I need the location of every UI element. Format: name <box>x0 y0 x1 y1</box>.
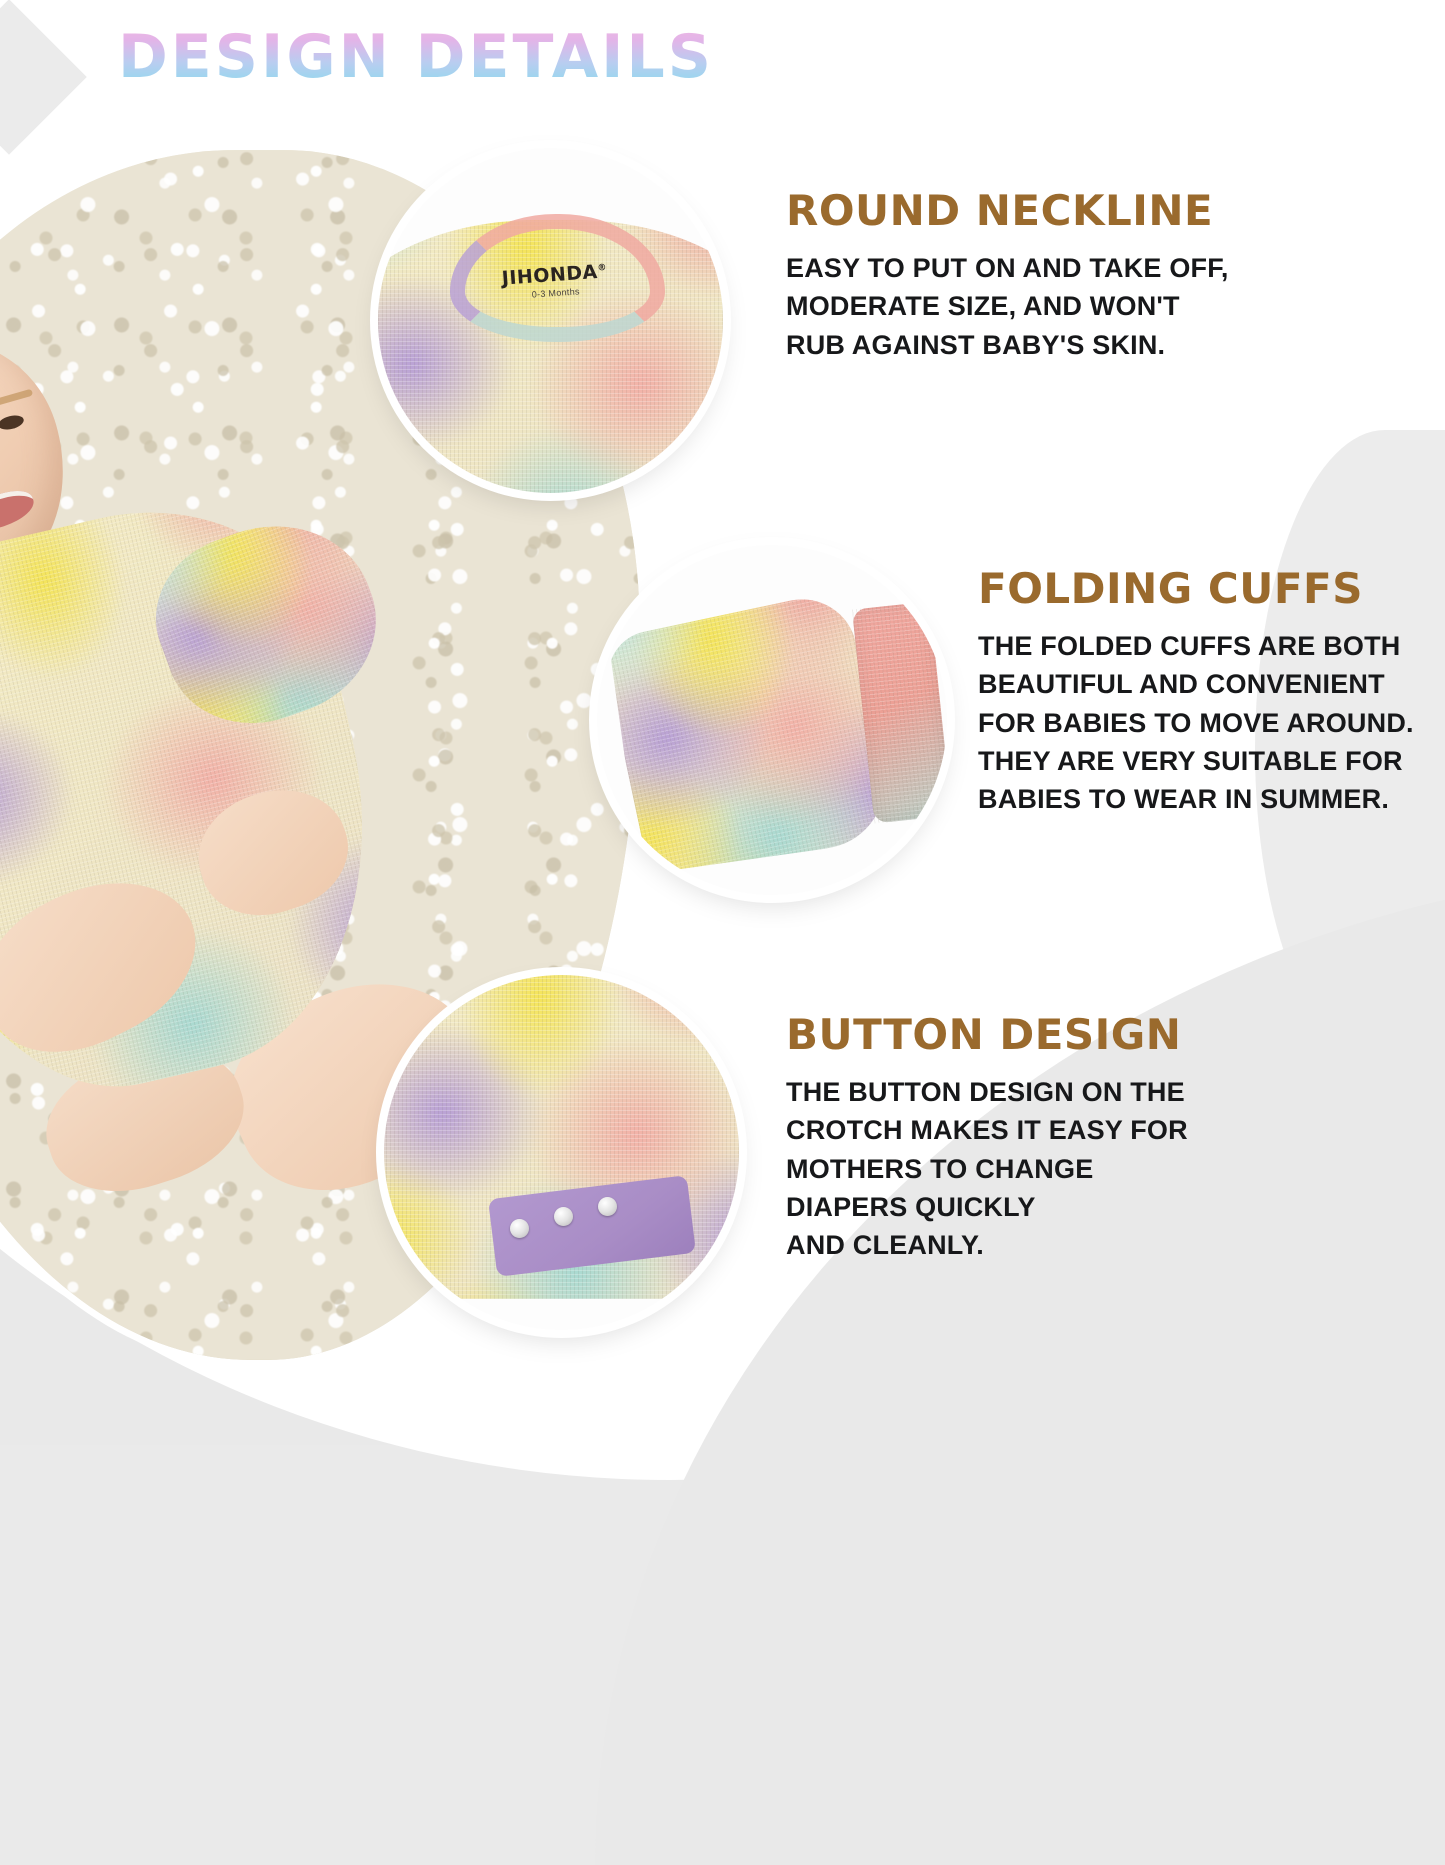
snap-button-circle-icon <box>384 975 739 1330</box>
neckline-circle-icon: JIHONDA® 0-3 Months <box>378 148 723 493</box>
body-line: FOR BABIES TO MOVE AROUND. <box>978 704 1414 742</box>
body-line: THE FOLDED CUFFS ARE BOTH <box>978 627 1414 665</box>
snap-button-2 <box>554 1207 573 1226</box>
brand-tag-size: 0-3 Months <box>531 286 580 299</box>
body-line: MOTHERS TO CHANGE <box>786 1150 1188 1188</box>
body-line: BEAUTIFUL AND CONVENIENT <box>978 665 1414 703</box>
body-button: THE BUTTON DESIGN ON THE CROTCH MAKES IT… <box>786 1073 1188 1265</box>
heading-cuffs: FOLDING CUFFS <box>978 568 1414 610</box>
waffle-knit-texture-cuff <box>604 589 897 874</box>
body-line: CROTCH MAKES IT EASY FOR <box>786 1111 1188 1149</box>
snap-button-3 <box>598 1197 617 1216</box>
neckline-detail-photo: JIHONDA® 0-3 Months <box>378 148 723 493</box>
brand-tag: JIHONDA® 0-3 Months <box>488 254 621 311</box>
body-cuffs: THE FOLDED CUFFS ARE BOTH BEAUTIFUL AND … <box>978 627 1414 819</box>
detail-text-neckline: ROUND NECKLINE EASY TO PUT ON AND TAKE O… <box>786 190 1229 364</box>
cuff-detail-photo <box>597 545 947 895</box>
sleeve-fabric <box>604 589 897 874</box>
heading-button: BUTTON DESIGN <box>786 1014 1188 1056</box>
body-line: EASY TO PUT ON AND TAKE OFF, <box>786 249 1229 287</box>
detail-text-button: BUTTON DESIGN THE BUTTON DESIGN ON THE C… <box>786 1014 1188 1265</box>
page-title: DESIGN DETAILS <box>118 22 714 92</box>
body-line: MODERATE SIZE, AND WON'T <box>786 287 1229 325</box>
heading-neckline: ROUND NECKLINE <box>786 190 1229 232</box>
detail-text-cuffs: FOLDING CUFFS THE FOLDED CUFFS ARE BOTH … <box>978 568 1414 819</box>
crotch-detail-photo <box>384 975 739 1330</box>
body-line: BABIES TO WEAR IN SUMMER. <box>978 780 1414 818</box>
body-line: RUB AGAINST BABY'S SKIN. <box>786 326 1229 364</box>
snap-button-1 <box>510 1219 529 1238</box>
body-line: THE BUTTON DESIGN ON THE <box>786 1073 1188 1111</box>
body-neckline: EASY TO PUT ON AND TAKE OFF, MODERATE SI… <box>786 249 1229 364</box>
brand-tag-name: JIHONDA® <box>501 262 608 288</box>
body-line: THEY ARE VERY SUITABLE FOR <box>978 742 1414 780</box>
body-line: AND CLEANLY. <box>786 1226 1188 1264</box>
cuff-circle-icon <box>597 545 947 895</box>
body-line: DIAPERS QUICKLY <box>786 1188 1188 1226</box>
